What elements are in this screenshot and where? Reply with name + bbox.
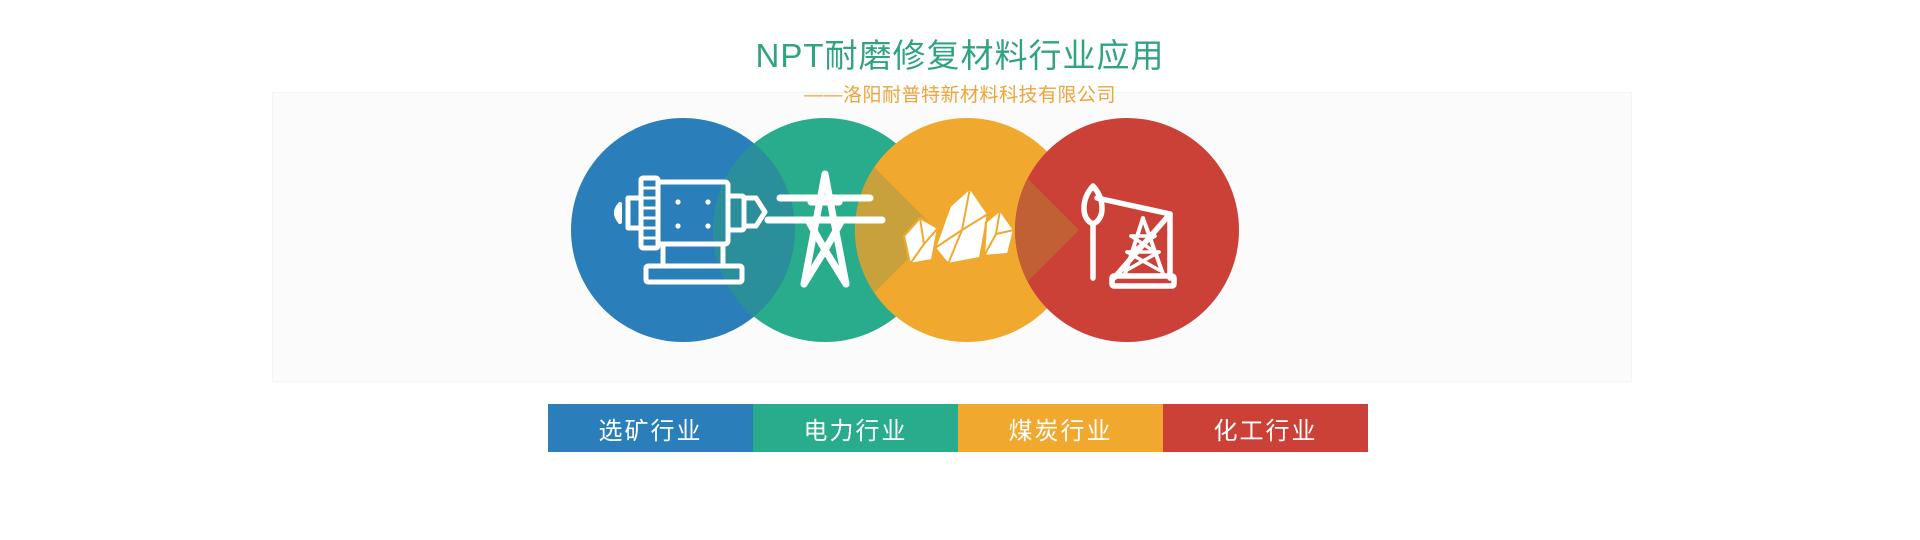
header: NPT耐磨修复材料行业应用 ——洛阳耐普特新材料科技有限公司 bbox=[0, 36, 1920, 109]
label-text: 煤炭行业 bbox=[1009, 411, 1113, 446]
label-chemical[interactable]: 化工行业 bbox=[1163, 404, 1368, 452]
label-text: 电力行业 bbox=[804, 411, 908, 446]
page-subtitle: ——洛阳耐普特新材料科技有限公司 bbox=[0, 83, 1920, 109]
label-text: 选矿行业 bbox=[599, 411, 703, 446]
label-text: 化工行业 bbox=[1214, 411, 1318, 446]
label-electric-power[interactable]: 电力行业 bbox=[753, 404, 958, 452]
industry-label-bar: 选矿行业 电力行业 煤炭行业 化工行业 bbox=[548, 404, 1368, 452]
slide-canvas: NPT耐磨修复材料行业应用 ——洛阳耐普特新材料科技有限公司 bbox=[0, 0, 1920, 540]
label-coal[interactable]: 煤炭行业 bbox=[958, 404, 1163, 452]
industry-diagram bbox=[480, 118, 1330, 393]
label-mineral-processing[interactable]: 选矿行业 bbox=[548, 404, 753, 452]
page-title: NPT耐磨修复材料行业应用 bbox=[0, 36, 1920, 76]
